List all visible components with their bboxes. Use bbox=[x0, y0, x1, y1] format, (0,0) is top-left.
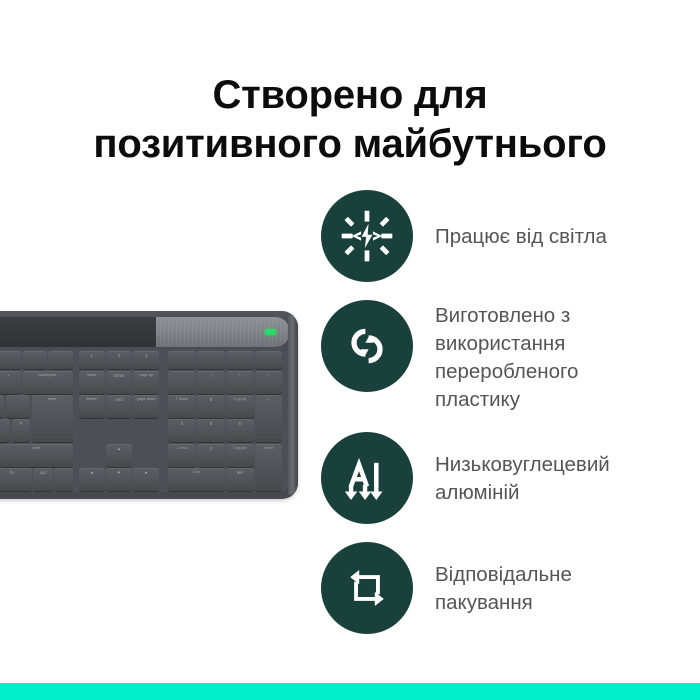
keyboard-key bbox=[48, 351, 72, 369]
keyboard-key: home bbox=[106, 371, 132, 394]
keyboard-key bbox=[168, 351, 195, 369]
keyboard-key: − bbox=[255, 371, 282, 394]
recycled-plastic-icon bbox=[321, 300, 413, 392]
keyboard-key: + bbox=[255, 395, 282, 442]
keyboard-key bbox=[54, 468, 72, 491]
keyboard-key: enter bbox=[255, 444, 282, 491]
keyboard-key: 1 end bbox=[168, 444, 195, 467]
keyboard-key: 8 bbox=[197, 395, 224, 418]
keyboard-key bbox=[168, 371, 195, 394]
keyboard-key: 0 ins bbox=[168, 468, 224, 491]
feature-label-low-carbon-aluminium: Низьковуглецевий алюміній bbox=[413, 449, 700, 507]
light-powered-icon bbox=[321, 190, 413, 282]
keyboard-key bbox=[6, 395, 30, 418]
page-title: Створено для позитивного майбутнього bbox=[0, 71, 700, 169]
keyboard-top-bar: logi bbox=[0, 317, 290, 347]
keyboard-key: ▲ bbox=[106, 444, 132, 467]
feature-label-light-powered: Працює від світла bbox=[413, 221, 700, 251]
keyboard-key: insert bbox=[79, 371, 105, 394]
keyboard-key: 4 bbox=[168, 419, 195, 442]
keyboard-key: 2 bbox=[197, 444, 224, 467]
responsible-packaging-icon bbox=[321, 542, 413, 634]
keyboard-key: 6 bbox=[226, 419, 253, 442]
feature-item-low-carbon-aluminium: Низьковуглецевий алюміній bbox=[321, 432, 700, 524]
keyboard-right-edge bbox=[288, 315, 298, 495]
keyboard-key bbox=[197, 351, 224, 369]
bottom-accent-bar bbox=[0, 683, 700, 700]
keyboard-key: 9 pg up bbox=[226, 395, 253, 418]
keyboard-key: page up bbox=[133, 371, 159, 394]
keyboard-key: page down bbox=[133, 395, 159, 418]
keyboard-key: / bbox=[197, 371, 224, 394]
low-carbon-aluminium-icon bbox=[321, 432, 413, 524]
keyboard-key: end bbox=[106, 395, 132, 418]
feature-card: Створено для позитивного майбутнього log… bbox=[0, 0, 700, 700]
keyboard-key: 3 pg dn bbox=[226, 444, 253, 467]
keyboard-key: 1 bbox=[79, 351, 105, 369]
keyboard-deck: 1230−+backspaceinserthomepage up/*−Pente… bbox=[0, 349, 292, 492]
feature-item-responsible-packaging: Відповідальне пакування bbox=[321, 542, 700, 634]
keyboard-key: shift bbox=[0, 444, 73, 467]
keyboard-key bbox=[226, 351, 253, 369]
keyboard-key: ▼ bbox=[106, 468, 132, 491]
feature-label-recycled-plastic: Виготовлено з використання переробленого… bbox=[413, 300, 700, 414]
keyboard-key: 2 bbox=[106, 351, 132, 369]
keyboard-key: * bbox=[226, 371, 253, 394]
keyboard-key bbox=[22, 351, 46, 369]
green-led-indicator-icon bbox=[265, 329, 276, 335]
keyboard-key bbox=[0, 395, 4, 418]
keyboard-key: # bbox=[12, 419, 30, 442]
keyboard-key: del bbox=[226, 468, 253, 491]
keyboard-key: backspace bbox=[22, 371, 72, 394]
keyboard-key bbox=[0, 351, 21, 369]
keyboard-key: + bbox=[0, 371, 21, 394]
keyboard-key: delete bbox=[79, 395, 105, 418]
keyboard-key bbox=[255, 351, 282, 369]
keyboard-key: 5 bbox=[197, 419, 224, 442]
feature-item-recycled-plastic: Виготовлено з використання переробленого… bbox=[321, 300, 700, 414]
keyboard-key: 7 home bbox=[168, 395, 195, 418]
keyboard-body: logi 1230−+backspaceinserthomepage up/*−… bbox=[0, 311, 298, 499]
product-image-keyboard: logi 1230−+backspaceinserthomepage up/*−… bbox=[0, 311, 298, 499]
feature-label-responsible-packaging: Відповідальне пакування bbox=[413, 559, 700, 617]
feature-item-light-powered: Працює від світла bbox=[321, 190, 700, 282]
keyboard-key: ◄ bbox=[79, 468, 105, 491]
keyboard-key: opt bbox=[33, 468, 53, 491]
keyboard-key: 3 bbox=[133, 351, 159, 369]
keyboard-key-grid: 1230−+backspaceinserthomepage up/*−Pente… bbox=[0, 349, 292, 492]
feature-list: Працює від світла Виготовлено з використ… bbox=[321, 190, 700, 634]
keyboard-key: enter bbox=[32, 395, 73, 442]
keyboard-key: ► bbox=[133, 468, 159, 491]
keyboard-key: ' bbox=[0, 419, 10, 442]
keyboard-key: fn bbox=[0, 468, 32, 491]
